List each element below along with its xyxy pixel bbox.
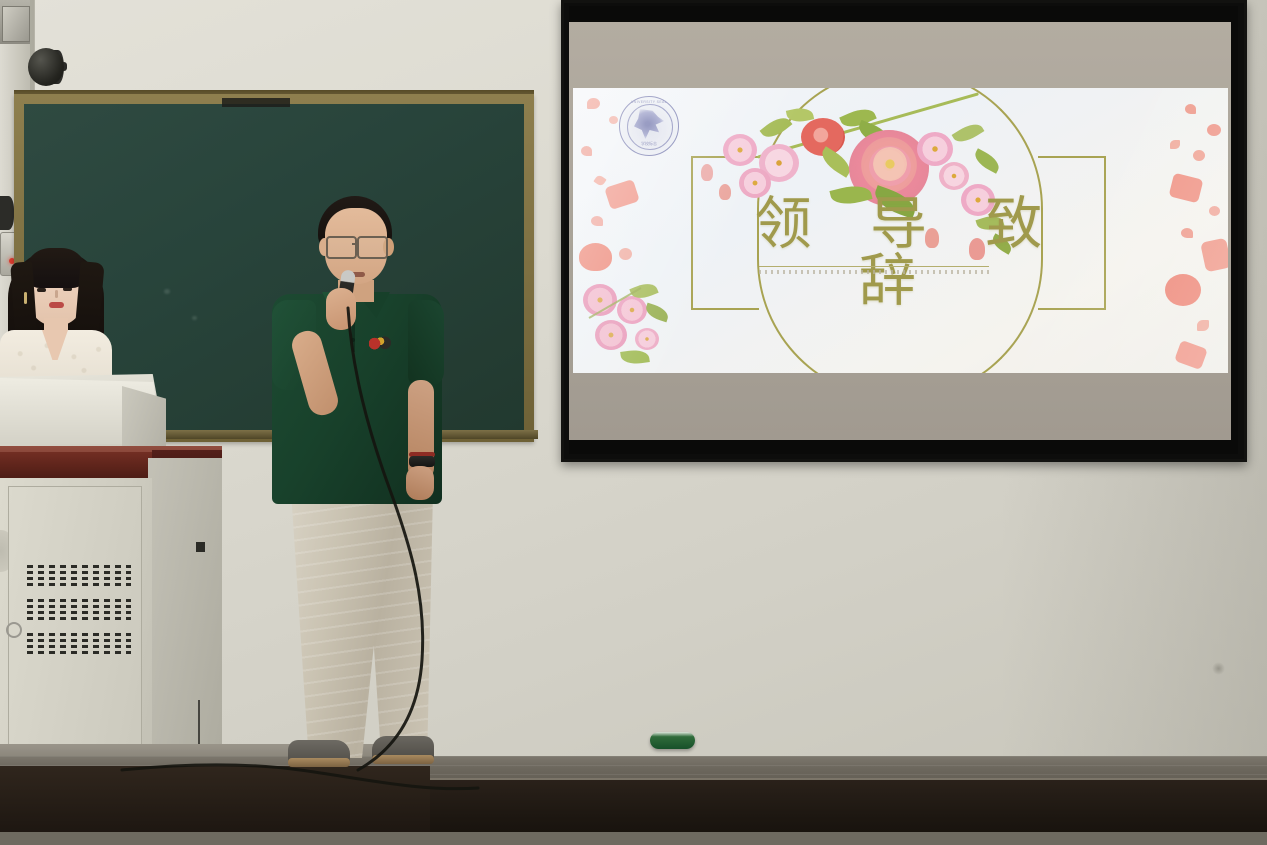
chalkboard-eraser[interactable] xyxy=(222,98,290,107)
presentation-slide: UNIVERSITY SEAL 学校标志 领 导 致 辞 xyxy=(573,88,1228,373)
lectern-cabinet-door[interactable] xyxy=(8,486,142,772)
speaker-sleeve-right xyxy=(408,300,444,386)
speaker-trousers-folds xyxy=(288,490,436,758)
wall-scuff-mark xyxy=(1212,662,1225,675)
glasses-lens-left-icon xyxy=(326,236,357,259)
host-hair-top xyxy=(25,248,87,288)
speaker-shirt-logo-icon xyxy=(369,334,391,350)
lectern-body-side xyxy=(148,458,222,780)
wall-speaker-icon xyxy=(28,48,64,86)
speaker-hand-right xyxy=(406,466,434,500)
lectern-door-handle[interactable] xyxy=(6,622,22,638)
host-earring xyxy=(24,292,27,304)
projection-glare xyxy=(573,88,1228,373)
wall-shadow-left xyxy=(0,196,14,230)
lecture-hall-photo: UNIVERSITY SEAL 学校标志 领 导 致 辞 xyxy=(0,0,1267,845)
door-hardware-plate xyxy=(2,6,30,42)
floor-foreground xyxy=(0,832,1267,845)
glasses-bridge xyxy=(352,243,359,245)
green-cushion-object xyxy=(650,732,695,749)
host-eye-left xyxy=(37,288,46,292)
speaker-shirt-button xyxy=(351,338,355,342)
host-mouth xyxy=(49,302,64,308)
host-nose xyxy=(55,290,58,298)
microphone-cable-floor xyxy=(60,748,480,794)
glasses-lens-right-icon xyxy=(357,236,388,259)
lectern-keyhole[interactable] xyxy=(196,542,205,552)
speaker-hand-left xyxy=(326,288,356,330)
